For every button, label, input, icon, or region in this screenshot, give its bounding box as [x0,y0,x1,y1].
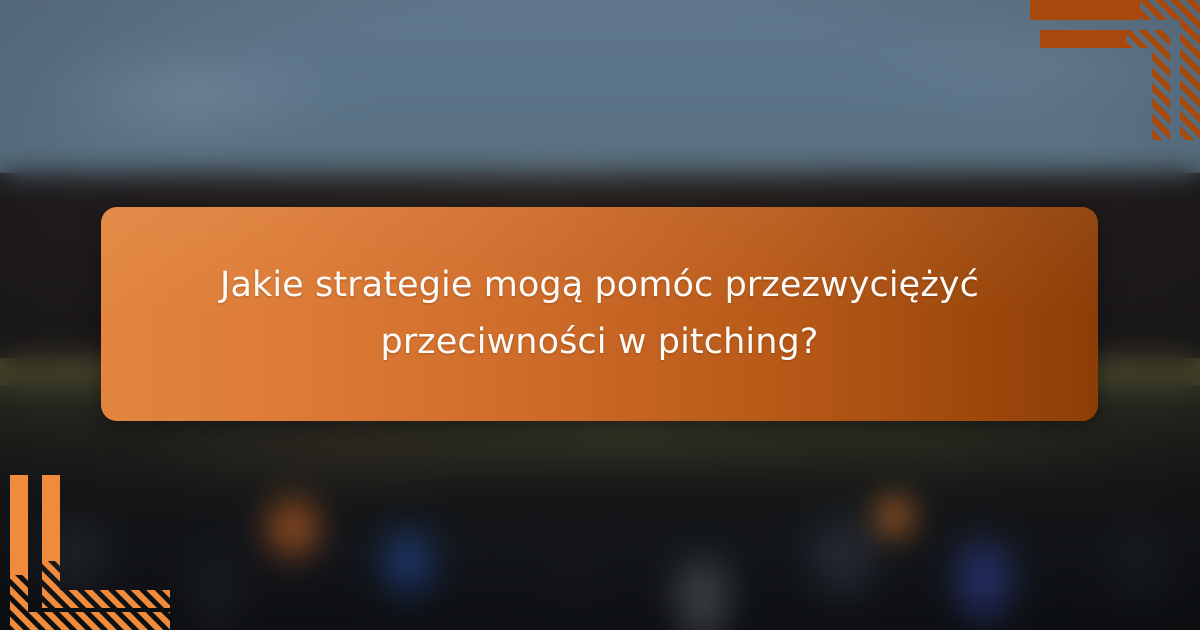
quote-card-stage: Jakie strategie mogą pomóc przezwyciężyć… [0,0,1200,630]
quote-card: Jakie strategie mogą pomóc przezwyciężyć… [101,207,1098,421]
quote-text: Jakie strategie mogą pomóc przezwyciężyć… [131,257,1068,370]
